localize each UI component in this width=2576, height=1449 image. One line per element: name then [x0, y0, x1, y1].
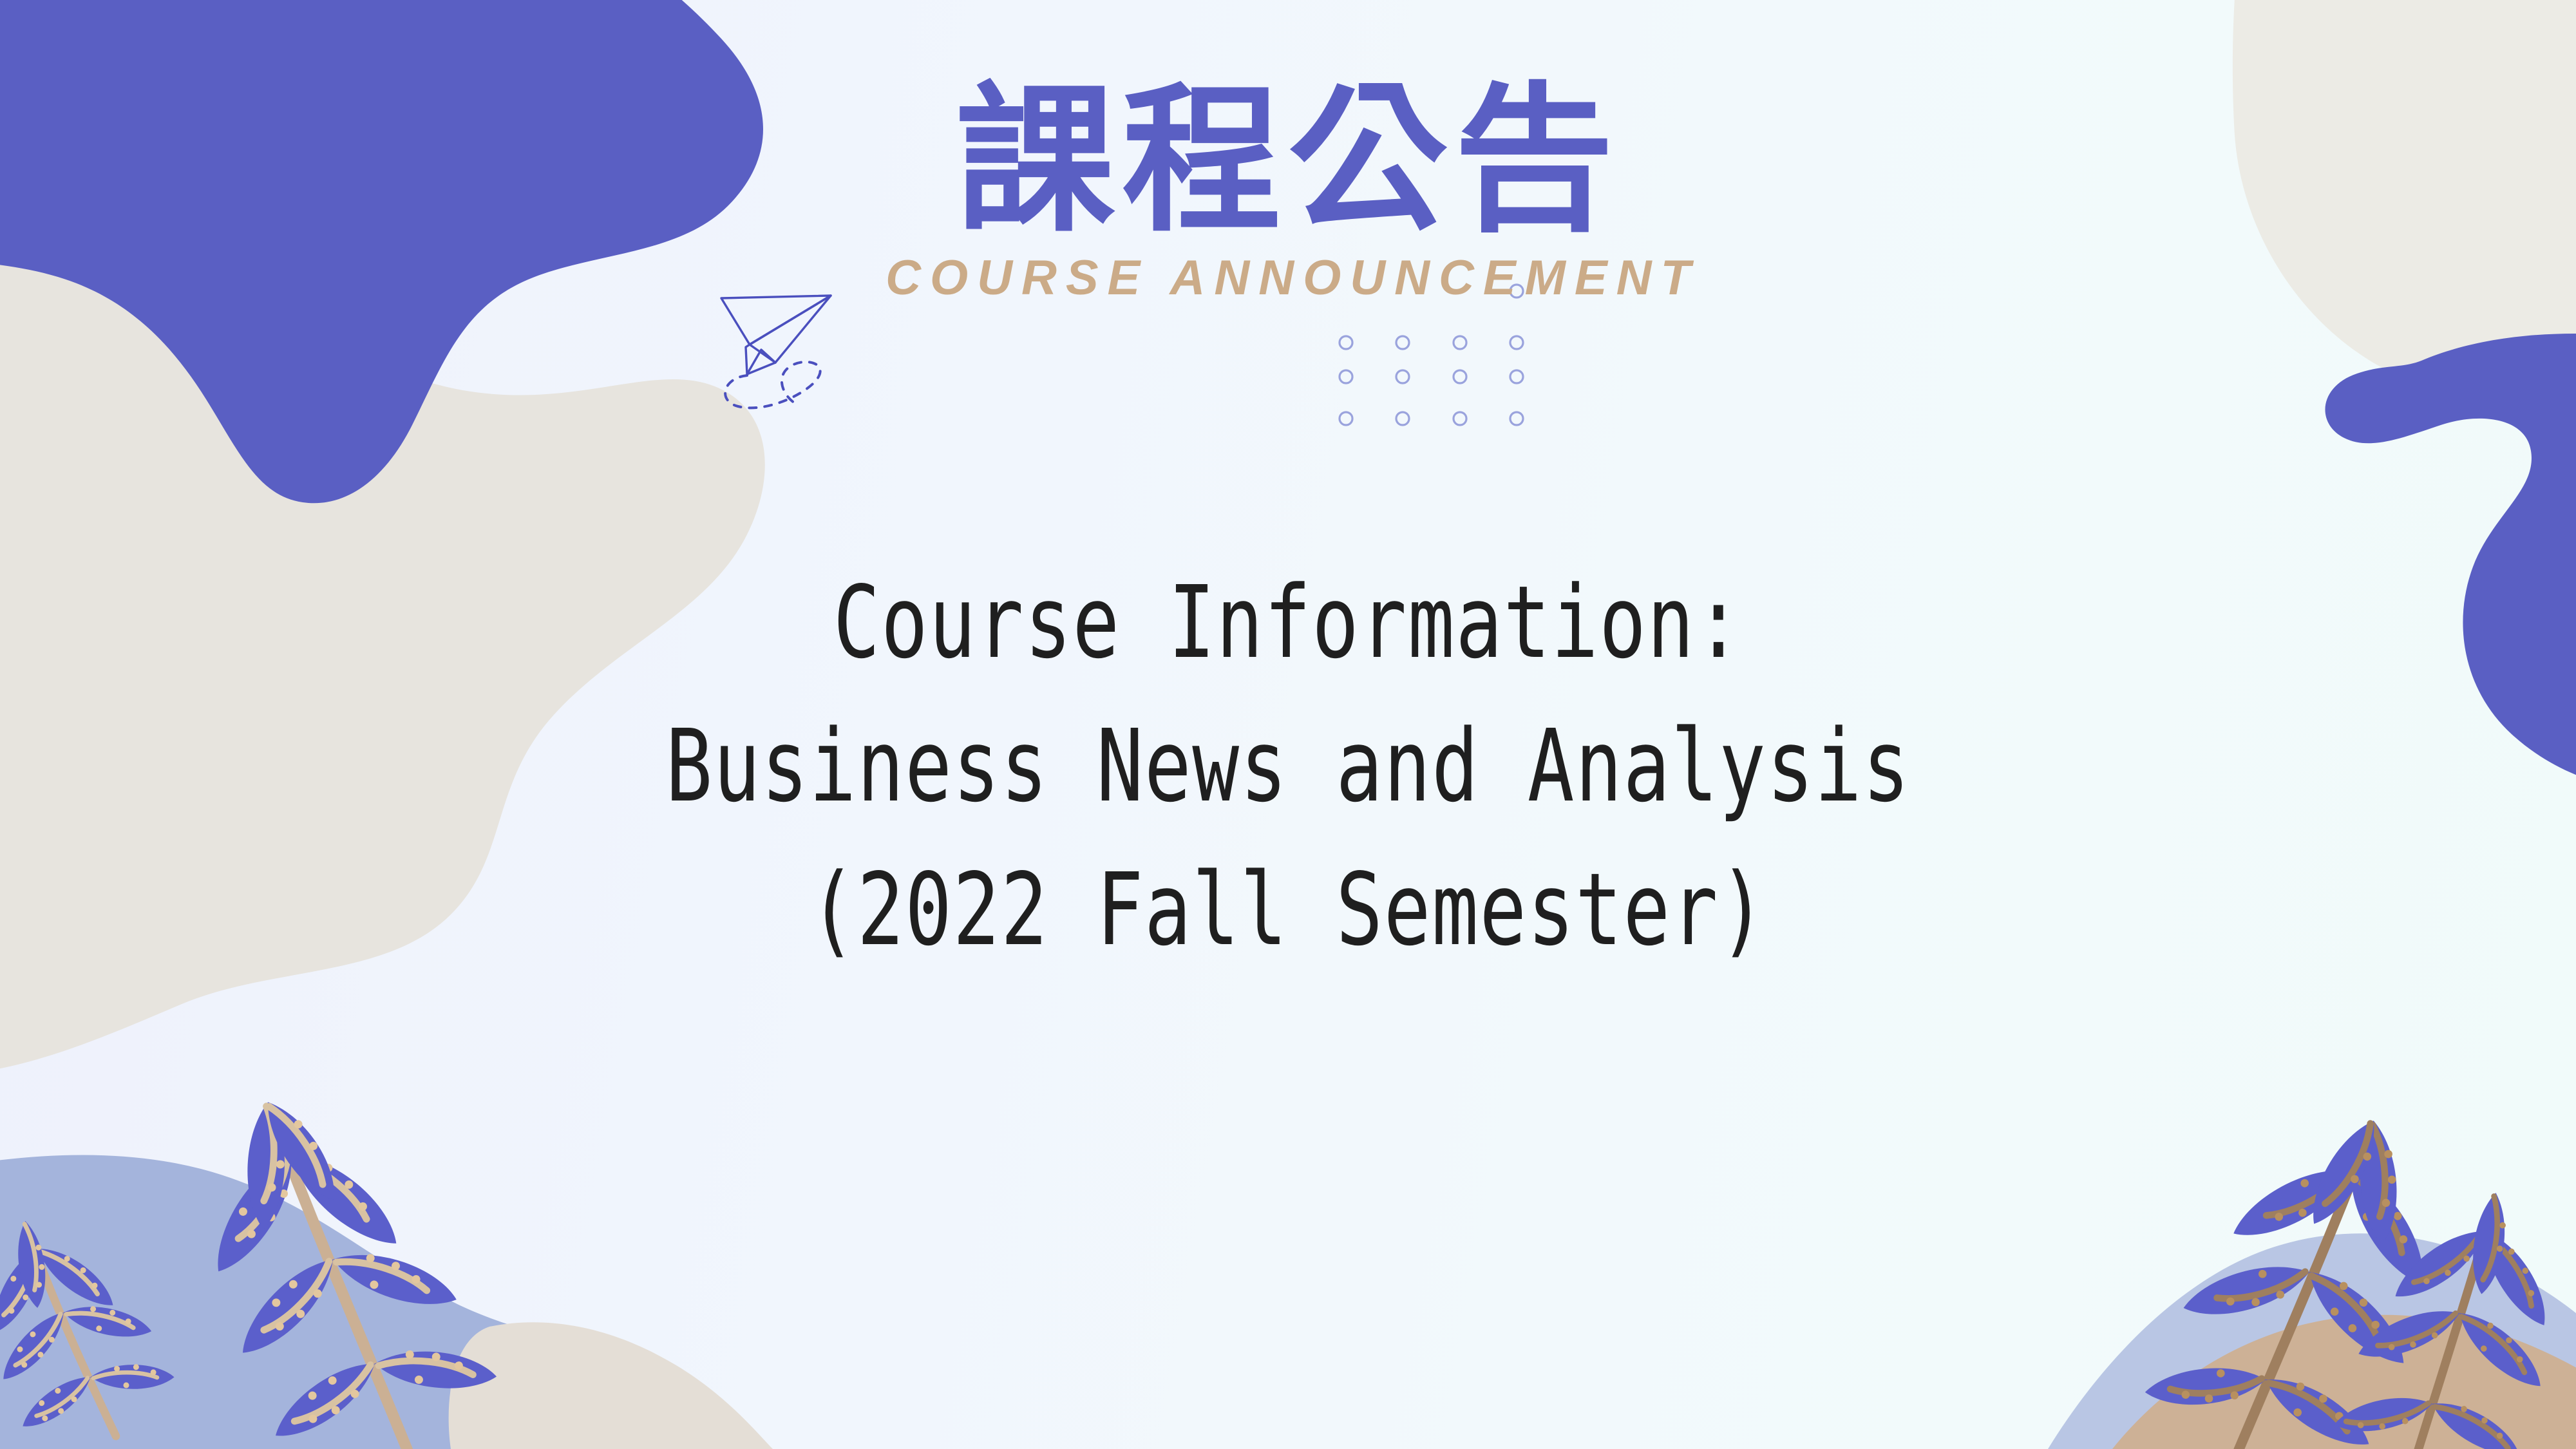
dashed-loop-trail-icon — [725, 362, 820, 408]
paper-plane-icon — [716, 267, 884, 415]
page-subtitle-english: COURSE ANNOUNCEMENT — [876, 250, 1700, 306]
course-title-line-2: Business News and Analysis — [283, 694, 2293, 838]
paper-plane-decoration — [716, 267, 884, 415]
bottom-left-beige-hill — [449, 1322, 773, 1449]
course-title-line-1: Course Information: — [283, 551, 2293, 694]
top-right-purple-blob — [2325, 334, 2576, 791]
course-title-line-3: (2022 Fall Semester) — [283, 838, 2293, 981]
bottom-right-leaf-branch-left — [2125, 1076, 2471, 1449]
bottom-right-leaf-branch-right — [2322, 1171, 2576, 1449]
bottom-left-leaf-branch-large — [166, 1057, 518, 1449]
header-lockup: 課程公告 COURSE ANNOUNCEMENT — [0, 77, 2576, 306]
page-title-chinese: 課程公告 — [956, 77, 1620, 245]
bottom-left-leaf-branch-small — [0, 1191, 189, 1449]
bottom-left-blue-hill — [0, 1155, 760, 1449]
course-announcement-poster: 課程公告 COURSE ANNOUNCEMENT Course Informat… — [0, 0, 2576, 1449]
course-title-block: Course Information: Business News and An… — [283, 551, 2293, 982]
bottom-right-tan-hill — [2112, 1315, 2576, 1449]
bottom-right-blue-hill — [2048, 1233, 2576, 1449]
